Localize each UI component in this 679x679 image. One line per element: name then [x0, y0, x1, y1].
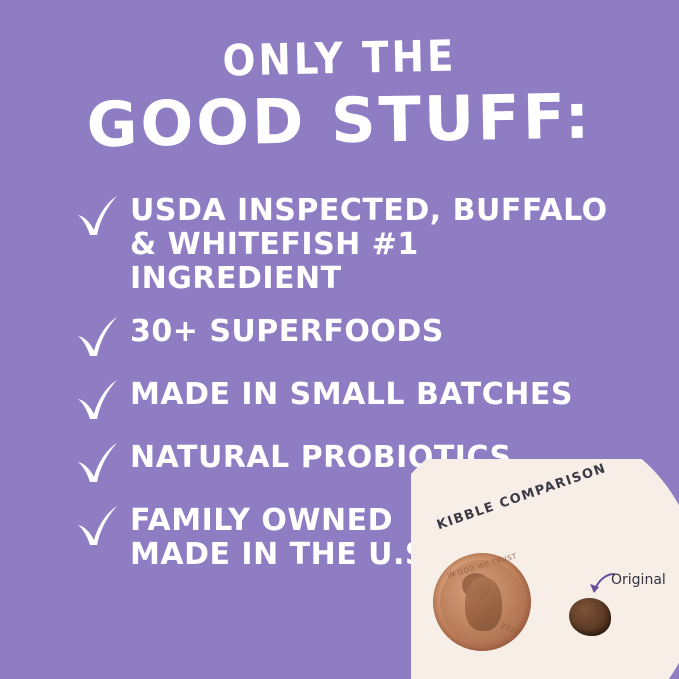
list-item: USDA Inspected, Buffalo & Whitefish #1 I… — [74, 192, 634, 296]
us-penny: IN GOD WE TRUST 2022 — [433, 553, 531, 651]
list-item-text-line-1: 30+ Superfoods — [130, 314, 444, 349]
list-item-text-line-1: Family Owned — [130, 503, 393, 538]
list-item-text: 30+ Superfoods — [130, 313, 444, 349]
headline-line-2: Good Stuff: — [0, 80, 679, 162]
kibble-comparison-inset: Kibble Comparison IN GOD WE TRUST 2022 O… — [411, 459, 679, 679]
checkmark-icon — [74, 378, 120, 422]
product-feature-poster: Only the Good Stuff: USDA Inspected, Buf… — [0, 0, 679, 679]
checkmark-icon — [74, 441, 120, 485]
list-item-text-line-1: USDA Inspected, Buffalo — [130, 193, 608, 228]
list-item-text: Made in Small Batches — [130, 376, 573, 412]
checkmark-icon — [74, 504, 120, 548]
kibble-piece — [569, 598, 611, 636]
kibble-label: Original — [611, 572, 666, 588]
list-item-text: USDA Inspected, Buffalo & Whitefish #1 I… — [130, 192, 634, 296]
checkmark-icon — [74, 315, 120, 359]
list-item-text-line-2: & Whitefish #1 Ingredient — [130, 228, 634, 296]
list-item: 30+ Superfoods — [74, 313, 634, 359]
checkmark-icon — [74, 194, 120, 238]
list-item-text-line-1: Made in Small Batches — [130, 377, 573, 412]
list-item: Made in Small Batches — [74, 376, 634, 422]
kibble-comparison-caption: Kibble Comparison — [425, 481, 665, 541]
headline: Only the Good Stuff: — [0, 34, 679, 156]
penny-portrait — [465, 577, 502, 631]
